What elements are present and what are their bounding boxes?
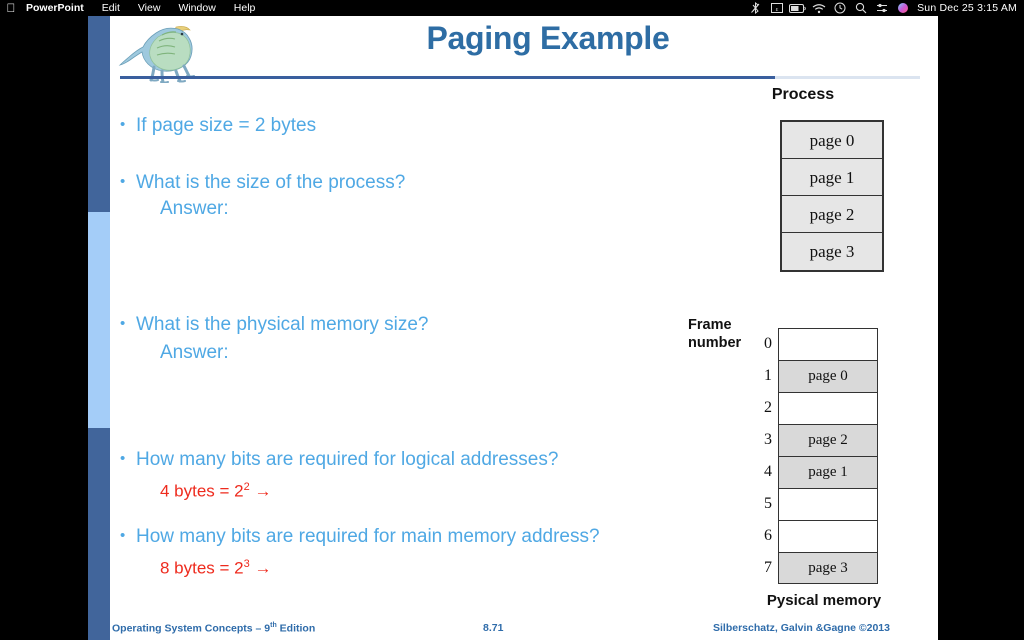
answer-5-main: 8 bytes = 2 — [160, 559, 244, 578]
bullet-marker-icon: • — [120, 313, 136, 335]
footer-left-main: Operating System Concepts – 9 — [112, 623, 270, 635]
menu-item-powerpoint[interactable]: PowerPoint — [22, 0, 93, 16]
control-center-icon[interactable] — [871, 2, 892, 14]
bullet-item-1: • If page size = 2 bytes — [120, 114, 316, 138]
frame-number: 2 — [758, 392, 778, 424]
slide-footer: Operating System Concepts – 9th Edition … — [88, 614, 938, 640]
bullet-answer-4: 4 bytes = 22 → — [160, 476, 272, 503]
answer-5-arrow: → — [250, 559, 272, 578]
menu-bar-status-group: ε Sun Dec 25 3:15 AM — [745, 0, 1024, 16]
bullet-text-4: How many bits are required for logical a… — [136, 448, 558, 472]
wifi-icon[interactable] — [808, 3, 829, 14]
answer-4-arrow: → — [250, 482, 272, 501]
bullet-item-2: • What is the size of the process? — [120, 171, 405, 195]
bullet-item-3: • What is the physical memory size? — [120, 313, 429, 337]
siri-icon[interactable] — [892, 2, 913, 14]
slide-title: Paging Example — [228, 20, 868, 57]
svg-text:ε: ε — [775, 6, 778, 13]
menu-item-window[interactable]: Window — [169, 0, 224, 16]
process-page-cell: page 0 — [782, 122, 882, 159]
bullet-answer-label-3: Answer: — [160, 341, 229, 365]
bullet-marker-icon: • — [120, 525, 136, 547]
process-page-cell: page 2 — [782, 196, 882, 233]
answer-4-main: 4 bytes = 2 — [160, 482, 244, 501]
title-divider-rule — [120, 75, 920, 79]
bullet-text-5: How many bits are required for main memo… — [136, 525, 600, 549]
frame-number-label-line1: Frame — [688, 316, 764, 334]
footer-copyright: Silberschatz, Galvin &Gagne ©2013 — [713, 622, 890, 634]
powerpoint-slide: Paging Example • If page size = 2 bytes … — [88, 16, 938, 640]
bullet-text-2: What is the size of the process? — [136, 171, 405, 195]
frame-number: 5 — [758, 488, 778, 520]
process-page-cell: page 1 — [782, 159, 882, 196]
footer-left-superscript: th — [270, 622, 277, 629]
frame-number-label-line2: number — [688, 334, 764, 352]
search-icon[interactable] — [850, 2, 871, 14]
memory-frame-row: 3 page 2 — [758, 424, 878, 456]
footer-slide-number: 8.71 — [483, 622, 503, 634]
memory-frame-rows: 0 1 page 0 2 3 page 2 4 page 1 — [758, 328, 878, 584]
menu-item-help[interactable]: Help — [225, 0, 265, 16]
memory-frame-row: 7 page 3 — [758, 552, 878, 584]
battery-icon[interactable] — [787, 3, 808, 14]
memory-frame-row: 4 page 1 — [758, 456, 878, 488]
macos-menu-bar:  PowerPoint Edit View Window Help ε — [0, 0, 1024, 16]
footer-left-tail: Edition — [277, 623, 316, 635]
dinosaur-logo-icon — [118, 17, 210, 83]
bullet-answer-5: 8 bytes = 23 → — [160, 553, 272, 580]
menu-item-view[interactable]: View — [129, 0, 170, 16]
bullet-marker-icon: • — [120, 171, 136, 193]
memory-frame-row: 2 — [758, 392, 878, 424]
memory-frame-row: 6 — [758, 520, 878, 552]
frame-number: 4 — [758, 456, 778, 488]
frame-cell: page 1 — [778, 456, 878, 488]
frame-cell: page 3 — [778, 552, 878, 584]
accent-band-top — [88, 16, 110, 212]
frame-number: 0 — [758, 328, 778, 360]
process-diagram-caption: Process — [693, 86, 913, 104]
bullet-item-4: • How many bits are required for logical… — [120, 448, 558, 472]
bullet-text-1: If page size = 2 bytes — [136, 114, 316, 138]
frame-number: 7 — [758, 552, 778, 584]
memory-frame-row: 1 page 0 — [758, 360, 878, 392]
footer-left-text: Operating System Concepts – 9th Edition — [112, 622, 315, 635]
screen:  PowerPoint Edit View Window Help ε — [0, 0, 1024, 640]
slide-accent-strip — [88, 16, 110, 640]
process-diagram: Process page 0 page 1 page 2 page 3 — [693, 86, 913, 104]
menu-bar-left-group:  PowerPoint Edit View Window Help — [0, 0, 264, 16]
frame-cell — [778, 488, 878, 520]
input-source-icon[interactable]: ε — [766, 2, 787, 14]
bullet-marker-icon: • — [120, 448, 136, 470]
apple-logo-icon[interactable]:  — [0, 0, 22, 16]
bullet-item-5: • How many bits are required for main me… — [120, 525, 600, 549]
process-page-cell: page 3 — [782, 233, 882, 270]
accent-band-middle — [88, 212, 110, 428]
frame-cell — [778, 392, 878, 424]
frame-cell: page 2 — [778, 424, 878, 456]
process-page-table: page 0 page 1 page 2 page 3 — [780, 120, 884, 272]
memory-frame-row: 5 — [758, 488, 878, 520]
accent-band-bottom — [88, 428, 110, 640]
frame-cell — [778, 520, 878, 552]
bullet-answer-label-2: Answer: — [160, 197, 229, 221]
frame-cell: page 0 — [778, 360, 878, 392]
bullet-marker-icon: • — [120, 114, 136, 136]
frame-number-label: Frame number — [688, 316, 764, 352]
time-machine-icon[interactable] — [829, 2, 850, 14]
bullet-text-3: What is the physical memory size? — [136, 313, 429, 337]
bluetooth-off-icon[interactable] — [745, 2, 766, 14]
frame-cell — [778, 328, 878, 360]
physical-memory-caption: Pysical memory — [744, 592, 904, 609]
frame-number: 3 — [758, 424, 778, 456]
memory-frame-row: 0 — [758, 328, 878, 360]
menu-bar-clock[interactable]: Sun Dec 25 3:15 AM — [913, 2, 1017, 14]
title-rule-light — [775, 76, 920, 79]
menu-item-edit[interactable]: Edit — [93, 0, 129, 16]
frame-number: 6 — [758, 520, 778, 552]
frame-number: 1 — [758, 360, 778, 392]
title-rule-dark — [120, 76, 775, 79]
